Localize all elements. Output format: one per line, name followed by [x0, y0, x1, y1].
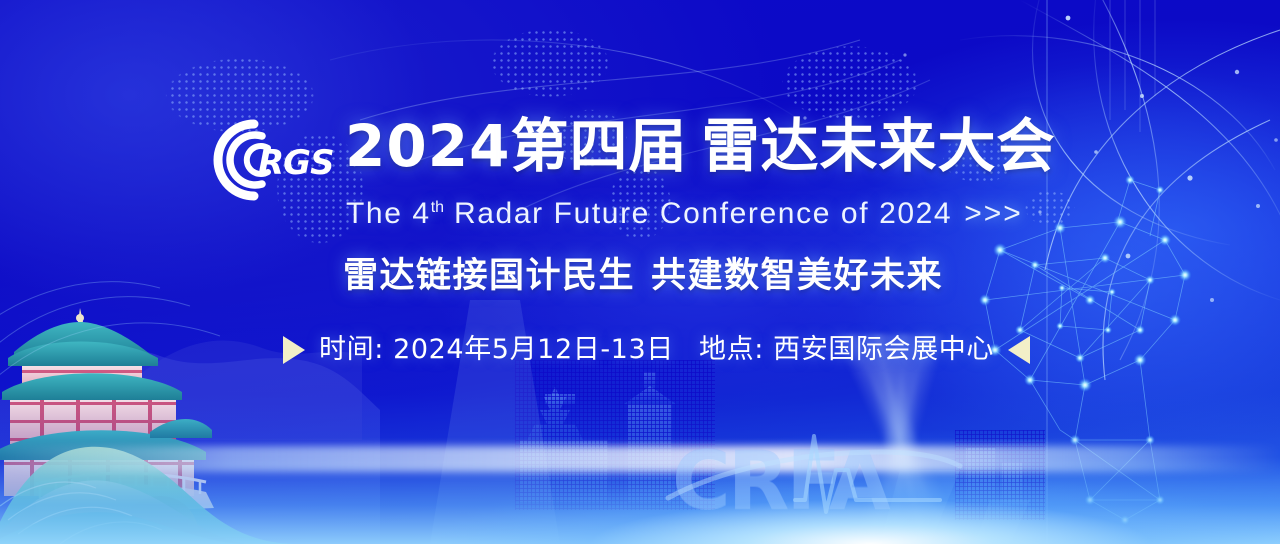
subtitle-english: The 4th Radar Future Conference of 2024>…: [346, 190, 1023, 232]
event-info-line: 时间: 2024年5月12日-13日 地点: 西安国际会展中心: [283, 333, 1030, 367]
rgs-logo: RGS: [196, 118, 334, 202]
time-value: 2024年5月12日-13日: [393, 334, 674, 365]
svg-text:RGS: RGS: [258, 143, 334, 183]
slogan-part2: 共建数智美好未来: [651, 256, 943, 296]
chevrons-icon: >>>: [964, 197, 1023, 230]
banner-content: RGS 2024第四届雷达未来大会 The 4th Radar Future C…: [0, 0, 1280, 544]
place-value: 西安国际会展中心: [773, 334, 994, 365]
title-edition: 第四届: [510, 112, 687, 180]
subtitle-ordinal: th: [431, 199, 444, 216]
subtitle-prefix: The 4: [346, 197, 431, 230]
slogan: 雷达链接国计民生共建数智美好未来: [343, 254, 943, 298]
slogan-part1: 雷达链接国计民生: [343, 256, 635, 296]
conference-banner: CRFA RGS 2024第四届雷达未来大会 The 4th Radar Fut…: [0, 0, 1280, 544]
time-label: 时间:: [319, 334, 384, 365]
play-triangle-right-icon: [283, 336, 305, 364]
subtitle-suffix: Radar Future Conference of 2024: [454, 197, 952, 230]
place-label: 地点:: [699, 334, 764, 365]
title-name: 雷达未来大会: [701, 112, 1055, 180]
event-info-text: 时间: 2024年5月12日-13日 地点: 西安国际会展中心: [319, 333, 994, 367]
title-year-edition: 2024: [345, 112, 510, 180]
play-triangle-left-icon: [1008, 336, 1030, 364]
page-title: 2024第四届雷达未来大会: [345, 113, 1055, 179]
